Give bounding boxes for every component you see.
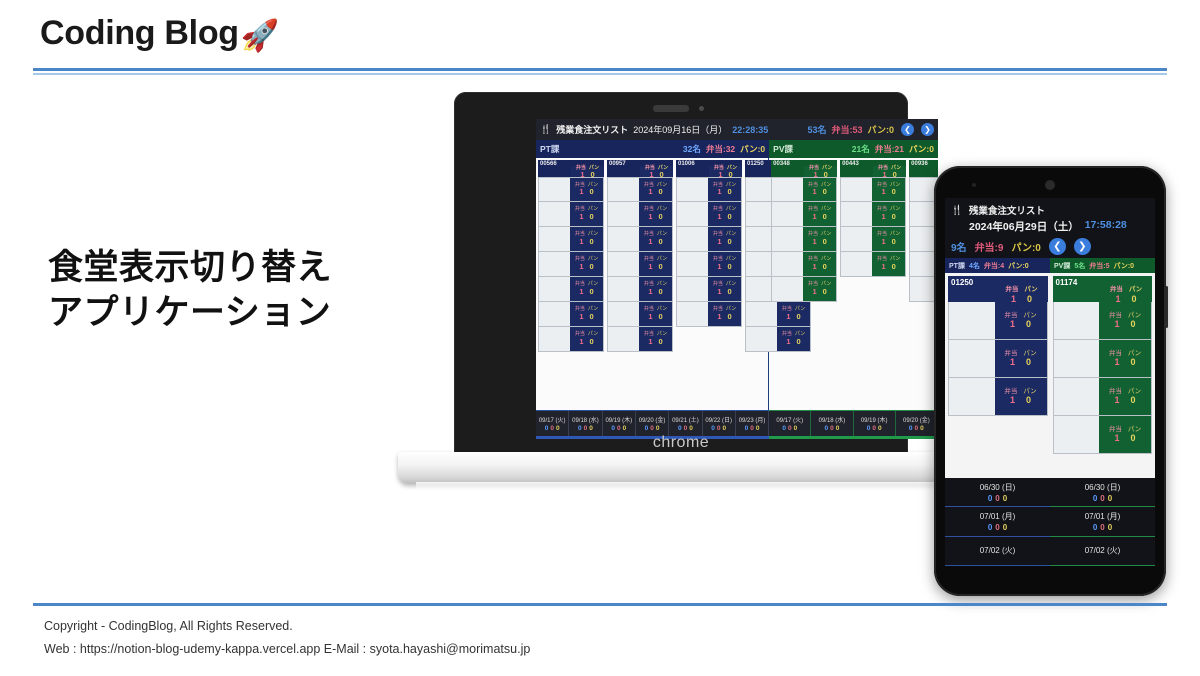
order-card[interactable]: 弁当パン10 [538,202,604,227]
pan-value: 0 [892,188,896,196]
footer: Copyright - CodingBlog, All Rights Reser… [44,615,530,661]
badge-values: 10 [786,313,800,321]
pan-value: 0 [590,263,594,271]
bento-value: 1 [579,338,583,346]
pan-value: 0 [590,288,594,296]
badge-values: 10 [717,313,731,321]
pan-value: 0 [892,213,896,221]
bento-value: 1 [579,263,583,271]
phone-screen: 🍴 残業食注文リスト 2024年06月29日（土） 17:58:28 9名 弁当… [945,198,1155,566]
bento-value: 1 [648,338,652,346]
order-badge: 弁当パン10 [708,202,741,226]
order-badge: 弁当パン10 [803,202,836,226]
pan-value: 0 [659,313,663,321]
mobile-date-list-pt: 06/30 (日)00007/01 (月)00007/02 (火) [945,478,1050,566]
date-people: 0 [745,425,749,432]
order-badge: 弁当パン10 [708,227,741,251]
order-columns-pv: 00348弁当パン10弁当パン10弁当パン10弁当パン10弁当パン10弁当パン1… [769,158,938,410]
order-badge: 弁当パン10 [639,252,672,276]
pan-value: 0 [728,188,732,196]
order-card[interactable]: 弁当パン10 [607,227,673,252]
order-badge: 弁当パン10 [639,277,672,301]
date-people: 0 [578,425,582,432]
date-cell[interactable]: 07/02 (火) [1050,537,1155,566]
bento-value: 1 [786,338,790,346]
badge-values: 10 [786,338,800,346]
bento-label: 弁当 [1004,312,1017,319]
order-badge: 弁当パン10 [708,277,741,301]
date-values: 000 [988,523,1007,532]
bento-value: 1 [648,213,652,221]
desktop-app-toolbar: 🍴 残業食注文リスト 2024年09月16日（月） 22:28:35 53名 弁… [536,119,938,140]
bento-value: 1 [648,313,652,321]
date-bento: 0 [872,425,876,432]
order-card[interactable]: 弁当パン10 [1053,378,1153,416]
date-people: 0 [711,425,715,432]
bento-value: 1 [881,238,885,246]
speaker-grille-icon [653,105,689,112]
order-card[interactable]: 弁当パン10 [948,302,1048,340]
date-values: 000 [825,425,840,432]
prev-day-button[interactable]: ❮ [901,123,914,136]
badge-values: 10 [717,263,731,271]
pan-value: 0 [892,238,896,246]
date-label: 09/19 (木) [861,415,888,424]
order-card[interactable]: 弁当パン10 [538,177,604,202]
pan-label: パン [1023,388,1036,395]
order-card[interactable]: 弁当パン10 [1053,416,1153,454]
date-bento: 0 [617,425,621,432]
order-card[interactable]: 弁当パン10 [948,378,1048,416]
mobile-title-row: 🍴 残業食注文リスト [951,203,1149,217]
date-people: 0 [645,425,649,432]
date-values: 000 [678,425,693,432]
pan-value: 0 [659,338,663,346]
department-header-pv[interactable]: PV課 5名 弁当:5 パン:0 [1050,258,1155,273]
department-header-pv[interactable]: PV課 21名 弁当:21 パン:0 [769,140,938,158]
badge-values: 10 [1114,357,1135,367]
date-label: 09/21 (土) [672,415,699,424]
pan-value: 0 [659,188,663,196]
order-badge: 弁当パン10 [570,277,603,301]
mobile-summary-row: 9名 弁当:9 パン:0 ❮ ❯ [951,238,1149,255]
badge-values: 10 [648,213,662,221]
department-bento: 弁当:32 [706,143,735,155]
date-cell[interactable]: 09/21 (土)000 [669,411,702,436]
header-divider-secondary [33,73,1167,75]
order-badge: 弁当パン10 [1099,378,1151,415]
order-card[interactable]: 弁当パン10 [538,227,604,252]
pan-value: 0 [728,263,732,271]
laptop-mockup: 🍴 残業食注文リスト 2024年09月16日（月） 22:28:35 53名 弁… [398,92,964,502]
laptop-lid: 🍴 残業食注文リスト 2024年09月16日（月） 22:28:35 53名 弁… [454,92,908,464]
badge-values: 10 [648,263,662,271]
prev-day-button[interactable]: ❮ [1049,238,1066,255]
total-people-count: 53名 [808,123,827,136]
date-pan: 0 [1108,523,1112,532]
earpiece-icon [1045,180,1055,190]
rocket-icon: 🚀 [241,20,279,51]
order-card-stack: 弁当パン10弁当パン10弁当パン10弁当パン10弁当パン10 [771,177,837,302]
order-card-stack: 弁当パン10弁当パン10弁当パン10弁当パン10弁当パン10弁当パン10弁当パン… [607,177,673,352]
bento-value: 1 [1114,395,1119,405]
order-column[interactable]: 00348弁当パン10弁当パン10弁当パン10弁当パン10弁当パン10弁当パン1… [771,160,837,302]
order-column[interactable]: 00957弁当パン10弁当パン10弁当パン10弁当パン10弁当パン10弁当パン1… [607,160,673,352]
footer-divider [33,603,1167,606]
pan-value: 0 [1026,357,1031,367]
department-pan: パン:0 [1113,261,1134,271]
order-badge: 弁当パン10 [803,252,836,276]
department-pan: パン:0 [1008,261,1029,271]
order-badge: 弁当パン10 [570,252,603,276]
date-people: 0 [782,425,786,432]
date-bento: 0 [788,425,792,432]
order-badge: 弁当パン10 [708,178,741,201]
app-date: 2024年06月29日（土） [969,219,1079,234]
order-badge: 弁当パン10 [995,340,1047,377]
badge-values: 10 [579,263,593,271]
next-day-button[interactable]: ❯ [1074,238,1091,255]
date-bento: 0 [750,425,754,432]
column-header: 01174弁当パン10 [1053,276,1153,302]
pan-value: 0 [590,238,594,246]
date-strip-pt: 09/17 (火)00009/18 (水)00009/19 (木)00009/2… [536,410,769,436]
order-card[interactable]: 弁当パン10 [771,227,837,252]
pan-value: 0 [1131,357,1136,367]
badge-values: 10 [579,213,593,221]
pan-label: パン [1128,350,1141,357]
date-cell[interactable]: 09/19 (木)000 [603,411,636,436]
order-card[interactable]: 弁当パン10 [840,252,906,277]
date-cell[interactable]: 09/22 (日)000 [703,411,736,436]
column-header: 00957弁当パン10 [607,160,673,177]
date-bento: 0 [684,425,688,432]
order-card[interactable]: 弁当パン10 [771,177,837,202]
badge-values: 10 [881,213,895,221]
badge-values: 10 [881,188,895,196]
department-pan: パン:0 [909,143,934,155]
order-card[interactable]: 弁当パン10 [538,327,604,352]
next-day-button[interactable]: ❯ [921,123,934,136]
badge-values: 10 [812,263,826,271]
power-button[interactable] [1165,286,1168,328]
date-cell[interactable]: 06/30 (日)000 [945,478,1050,507]
pan-label: パン [1128,426,1141,433]
order-column[interactable]: 00566弁当パン10弁当パン10弁当パン10弁当パン10弁当パン10弁当パン1… [538,160,604,352]
date-label: 09/20 (金) [639,415,666,424]
page-title-line2: アプリケーション [48,291,332,336]
badge-values: 10 [881,238,895,246]
total-people-count: 9名 [951,239,967,254]
order-card[interactable]: 弁当パン10 [1053,340,1153,378]
bento-value: 1 [648,288,652,296]
total-bento-count: 弁当:9 [975,239,1004,254]
order-card[interactable]: 弁当パン10 [607,177,673,202]
order-badge: 弁当パン10 [639,202,672,226]
bento-value: 1 [579,238,583,246]
brand-text: Coding Blog [40,14,239,53]
date-cell[interactable]: 06/30 (日)000 [1050,478,1155,507]
order-card[interactable]: 弁当パン10 [607,302,673,327]
badge-values: 10 [717,238,731,246]
mobile-department-row: PT課 4名 弁当:4 パン:0 PV課 5名 弁当:5 パン:0 [945,258,1155,273]
order-badge: 弁当パン10 [639,227,672,251]
date-people: 0 [988,494,992,503]
date-pan: 0 [878,425,882,432]
pan-label: パン [1023,312,1036,319]
total-pan-count: パン:0 [1011,239,1040,254]
badge-values: 10 [1114,395,1135,405]
order-column[interactable]: 01006弁当パン10弁当パン10弁当パン10弁当パン10弁当パン10弁当パン1… [676,160,742,327]
page-title: 食堂表示切り替え アプリケーション [48,246,332,336]
order-card[interactable]: 弁当パン10 [676,227,742,252]
date-label: 06/30 (日) [1085,482,1121,493]
order-badge: 弁当パン10 [570,227,603,251]
badge-values: 10 [1010,395,1031,405]
date-people: 0 [611,425,615,432]
mobile-app-toolbar: 🍴 残業食注文リスト 2024年06月29日（土） 17:58:28 9名 弁当… [945,198,1155,258]
order-card[interactable]: 弁当パン10 [676,177,742,202]
brand-logo: Coding Blog 🚀 [40,14,279,53]
pan-value: 0 [797,338,801,346]
footer-copyright: Copyright - CodingBlog, All Rights Reser… [44,615,530,638]
date-cell[interactable]: 09/18 (水)000 [811,411,853,436]
pan-value: 0 [590,188,594,196]
order-card[interactable]: 弁当パン10 [1053,302,1153,340]
date-values: 000 [988,494,1007,503]
badge-values: 10 [579,238,593,246]
header-divider-primary [33,68,1167,71]
department-name: PV課 [1054,261,1070,271]
date-strip: 09/17 (火)00009/18 (水)00009/19 (木)00009/2… [536,410,938,436]
mobile-date-row: 2024年06月29日（土） 17:58:28 [969,219,1149,234]
date-label: 07/01 (月) [980,511,1016,522]
employee-id: 01250 [951,278,973,287]
badge-values: 10 [812,288,826,296]
date-bento: 0 [717,425,721,432]
order-badge: 弁当パン10 [639,302,672,326]
order-columns-pt: 00566弁当パン10弁当パン10弁当パン10弁当パン10弁当パン10弁当パン1… [536,158,768,410]
date-bento: 0 [550,425,554,432]
date-values: 000 [545,425,560,432]
pan-value: 0 [1131,395,1136,405]
date-pan: 0 [836,425,840,432]
employee-id: 01174 [1056,278,1078,287]
department-name: PT課 [949,261,965,271]
pan-value: 0 [728,313,732,321]
badge-values: 10 [717,288,731,296]
order-card[interactable]: 弁当パン10 [607,252,673,277]
bento-value: 1 [812,213,816,221]
order-card[interactable]: 弁当パン10 [840,177,906,202]
date-values: 000 [711,425,726,432]
order-card[interactable]: 弁当パン10 [840,227,906,252]
order-card[interactable]: 弁当パン10 [771,252,837,277]
order-card[interactable]: 弁当パン10 [676,302,742,327]
bento-value: 1 [579,313,583,321]
order-card[interactable]: 弁当パン10 [538,252,604,277]
order-badge: 弁当パン10 [872,252,905,276]
order-card[interactable]: 弁当パン10 [771,202,837,227]
order-card[interactable]: 弁当パン10 [840,202,906,227]
badge-values: 10 [648,338,662,346]
total-pan-count: パン:0 [868,123,894,136]
department-header-pt[interactable]: PT課 32名 弁当:32 パン:0 [536,140,769,158]
utensil-icon: 🍴 [951,205,963,216]
order-card[interactable]: 弁当パン10 [745,302,811,327]
bento-value: 1 [881,213,885,221]
date-pan: 0 [689,425,693,432]
badge-values: 10 [579,188,593,196]
date-pan: 0 [756,425,760,432]
pan-value: 0 [823,288,827,296]
date-pan: 0 [623,425,627,432]
date-strip-pv: 09/17 (火)00009/18 (水)00009/19 (木)00009/2… [769,410,938,436]
date-values: 000 [782,425,797,432]
bento-label: 弁当 [1004,350,1017,357]
order-card[interactable]: 弁当パン10 [771,277,837,302]
department-people: 21名 [852,143,870,155]
date-pan: 0 [656,425,660,432]
date-cell[interactable]: 09/23 (月)000 [736,411,769,436]
bento-value: 1 [812,263,816,271]
date-bento: 0 [584,425,588,432]
date-people: 0 [1093,494,1097,503]
order-badge: 弁当パン10 [872,202,905,226]
bento-label: 弁当 [1005,286,1018,293]
page-title-line1: 食堂表示切り替え [48,246,332,291]
order-badge: 弁当パン10 [570,178,603,201]
order-card[interactable]: 弁当パン10 [538,277,604,302]
laptop-reflection [416,482,946,492]
bento-value: 1 [648,263,652,271]
order-board-pv: 00348弁当パン10弁当パン10弁当パン10弁当パン10弁当パン10弁当パン1… [769,158,938,410]
bento-label: 弁当 [1109,426,1122,433]
employee-id: 01250 [747,161,764,167]
pan-value: 0 [728,213,732,221]
order-card[interactable]: 弁当パン10 [676,202,742,227]
order-column[interactable]: 01174弁当パン10弁当パン10弁当パン10弁当パン10弁当パン10 [1053,276,1153,475]
date-cell[interactable]: 07/01 (月)000 [1050,507,1155,536]
bento-value: 1 [717,213,721,221]
order-card-stack: 弁当パン10弁当パン10弁当パン10弁当パン10 [840,177,906,277]
order-card[interactable]: 弁当パン10 [538,302,604,327]
employee-id: 00348 [773,161,790,167]
date-values: 000 [611,425,626,432]
order-card[interactable]: 弁当パン10 [676,252,742,277]
badge-values: 10 [1114,433,1135,443]
badge-values: 10 [717,188,731,196]
pan-value: 0 [823,263,827,271]
date-cell[interactable]: 09/17 (火)000 [536,411,569,436]
department-bento: 弁当:5 [1089,261,1109,271]
order-badge: 弁当パン10 [803,277,836,301]
pan-value: 0 [1131,433,1136,443]
bento-value: 1 [812,188,816,196]
column-header: 00443弁当パン10 [840,160,906,177]
bento-label: 弁当 [1109,312,1122,319]
date-bento: 0 [915,425,919,432]
order-card[interactable]: 弁当パン10 [607,202,673,227]
department-people: 4名 [969,261,980,271]
order-column[interactable]: 01250弁当パン10弁当パン10弁当パン10弁当パン10 [948,276,1048,475]
column-header: 01250弁当パン10 [948,276,1048,302]
order-card[interactable]: 弁当パン10 [745,327,811,352]
department-name: PT課 [540,143,559,155]
date-pan: 0 [794,425,798,432]
order-badge: 弁当パン10 [1099,340,1151,377]
order-card[interactable]: 弁当パン10 [676,277,742,302]
order-board: 00566弁当パン10弁当パン10弁当パン10弁当パン10弁当パン10弁当パン1… [536,158,938,410]
pan-value: 0 [1026,395,1031,405]
date-cell[interactable]: 09/19 (木)000 [854,411,896,436]
order-badge: 弁当パン10 [1099,302,1151,339]
date-cell[interactable]: 07/02 (火) [945,537,1050,566]
order-badge: 弁当パン10 [570,202,603,226]
department-bento: 弁当:4 [984,261,1004,271]
order-card[interactable]: 弁当パン10 [948,340,1048,378]
bento-label: 弁当 [1110,286,1123,293]
date-cell[interactable]: 09/17 (火)000 [769,411,811,436]
pan-value: 0 [590,213,594,221]
phone-mockup: 🍴 残業食注文リスト 2024年06月29日（土） 17:58:28 9名 弁当… [934,166,1166,596]
pan-value: 0 [892,263,896,271]
pan-value: 0 [590,338,594,346]
date-label: 09/18 (水) [572,415,599,424]
date-people: 0 [825,425,829,432]
order-badge: 弁当パン10 [639,327,672,351]
date-bento: 0 [995,494,999,503]
order-badge: 弁当パン10 [708,252,741,276]
badge-labels: 弁当パン [1109,426,1141,433]
date-cell[interactable]: 09/18 (水)000 [569,411,602,436]
date-people: 0 [909,425,913,432]
date-label: 09/23 (月) [739,415,766,424]
date-pan: 0 [920,425,924,432]
date-values: 000 [1093,523,1112,532]
order-board-pt: 00566弁当パン10弁当パン10弁当パン10弁当パン10弁当パン10弁当パン1… [536,158,769,410]
badge-values: 10 [1114,319,1135,329]
badge-values: 10 [812,213,826,221]
badge-values: 10 [881,263,895,271]
order-badge: 弁当パン10 [570,302,603,326]
date-people: 0 [545,425,549,432]
bento-value: 1 [1010,357,1015,367]
webcam-icon [699,106,704,111]
badge-labels: 弁当パン [1005,286,1037,293]
bento-value: 1 [717,188,721,196]
date-cell[interactable]: 07/01 (月)000 [945,507,1050,536]
order-badge: 弁当パン10 [872,227,905,251]
date-cell[interactable]: 09/20 (金)000 [636,411,669,436]
order-card[interactable]: 弁当パン10 [607,277,673,302]
department-name: PV課 [773,143,793,155]
pan-label: パン [1128,312,1141,319]
order-column[interactable]: 00443弁当パン10弁当パン10弁当パン10弁当パン10弁当パン10 [840,160,906,277]
bento-label: 弁当 [1004,388,1017,395]
date-label: 09/20 (金) [903,415,930,424]
pan-value: 0 [659,213,663,221]
bento-value: 1 [1114,357,1119,367]
department-header-pt[interactable]: PT課 4名 弁当:4 パン:0 [945,258,1050,273]
bento-value: 1 [1010,395,1015,405]
utensil-icon: 🍴 [540,124,551,135]
bento-value: 1 [579,188,583,196]
date-cell[interactable]: 09/20 (金)000 [896,411,938,436]
bento-value: 1 [717,313,721,321]
column-header: 00348弁当パン10 [771,160,837,177]
order-card[interactable]: 弁当パン10 [607,327,673,352]
